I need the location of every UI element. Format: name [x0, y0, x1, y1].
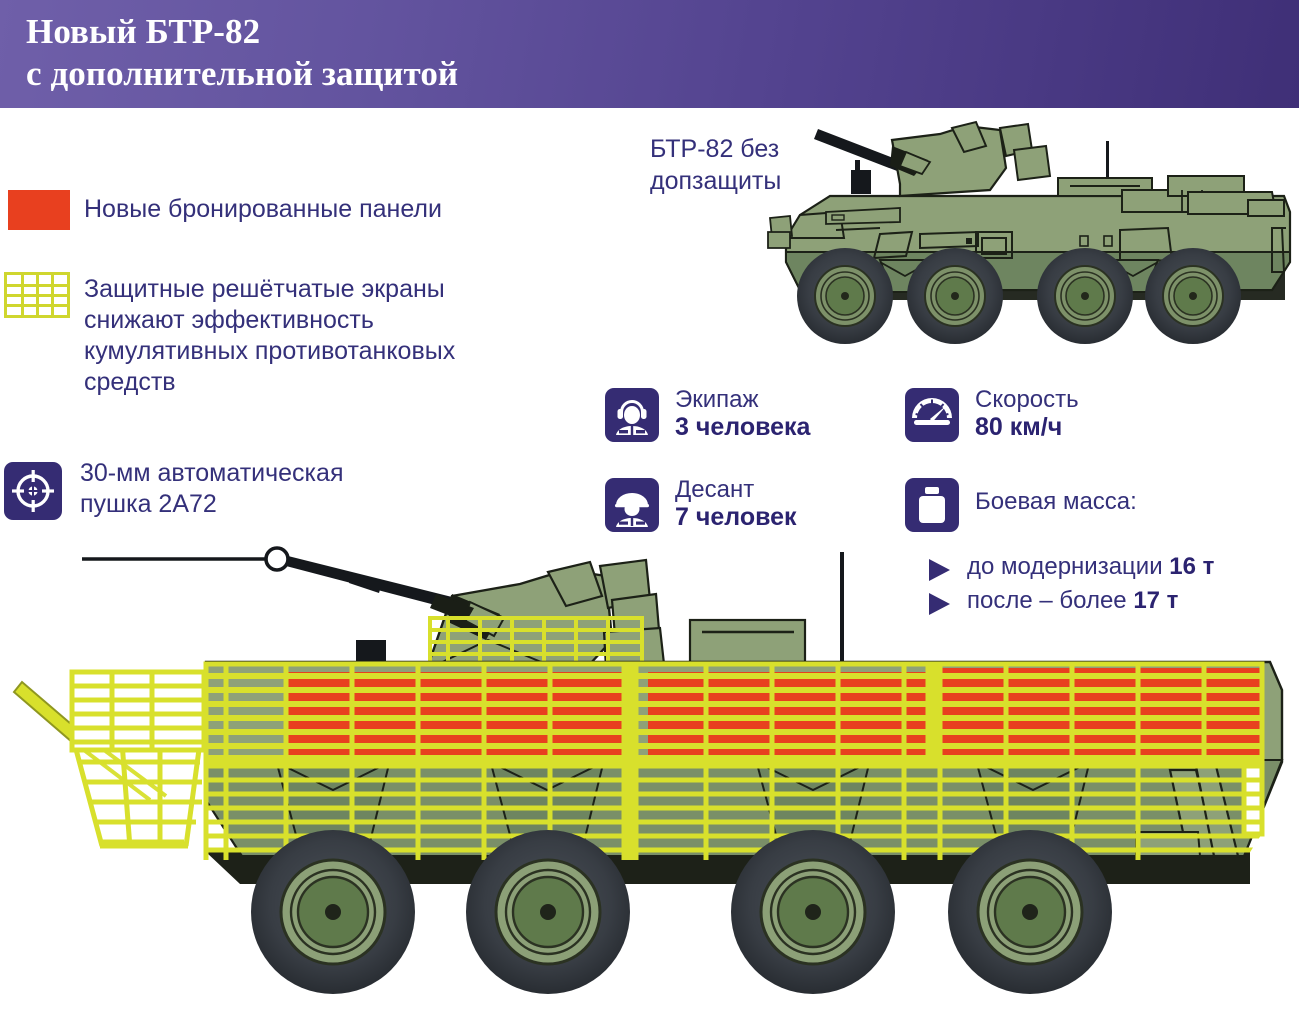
wheel	[466, 830, 630, 994]
infographic-root: Новый БТР-82 с дополнительной защитой Но…	[0, 0, 1299, 1018]
wheel	[948, 830, 1112, 994]
main-turret	[430, 560, 664, 670]
wheel	[731, 830, 895, 994]
front-slat-cage	[14, 672, 204, 852]
vehicle-illustrations	[0, 0, 1299, 1018]
btr-82-with-slat-and-panel-armor	[14, 552, 1282, 994]
btr-82-without-extra-armor	[768, 122, 1290, 344]
wheel	[251, 830, 415, 994]
